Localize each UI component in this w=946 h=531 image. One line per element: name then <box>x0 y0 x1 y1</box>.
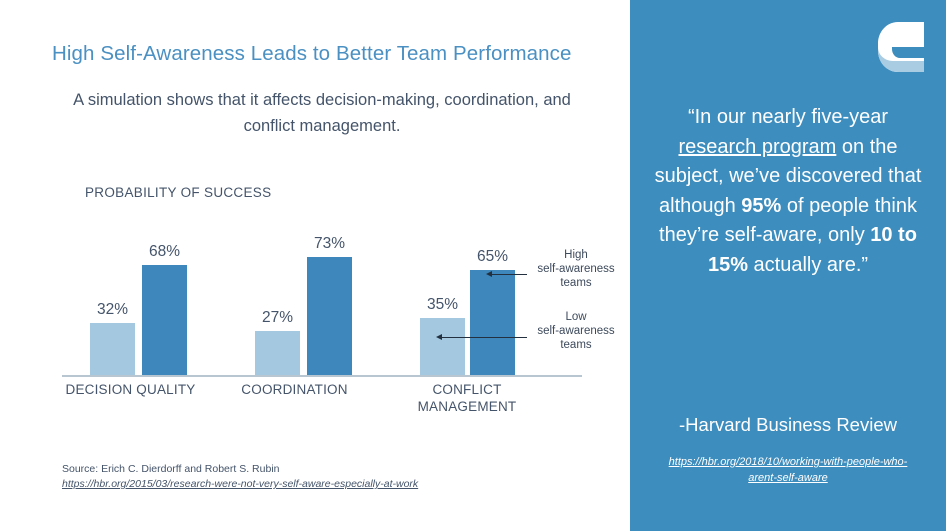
bar-value-label: 27% <box>262 309 293 327</box>
bar-high-coordination[interactable]: 73% <box>307 257 352 375</box>
annotation-high-self-awareness: High self-awareness teams <box>528 248 624 290</box>
korn-ferry-c-logo-icon <box>878 22 924 72</box>
annotation-line-3: teams <box>528 276 624 290</box>
bar-value-label: 73% <box>314 235 345 253</box>
bar-rect <box>307 257 352 375</box>
annotation-line-1: High <box>528 248 624 262</box>
quote-stat-95: 95% <box>741 195 781 217</box>
annotation-arrowhead-low <box>436 334 442 340</box>
bar-rect <box>90 323 135 375</box>
annotation-leader-line-low <box>442 337 527 338</box>
bar-low-conflict-management[interactable]: 35% <box>420 318 465 375</box>
slide-subtitle: A simulation shows that it affects decis… <box>52 88 592 139</box>
source-note: Source: Erich C. Dierdorff and Robert S.… <box>62 462 418 492</box>
bar-chart: 32% 68% 27% 73% 35% 65% <box>0 210 630 425</box>
quote-attribution: -Harvard Business Review <box>648 414 928 436</box>
chart-baseline <box>62 375 582 377</box>
bar-value-label: 68% <box>149 243 180 261</box>
bar-rect <box>142 265 187 375</box>
annotation-arrowhead-high <box>486 271 492 277</box>
source-authors: Source: Erich C. Dierdorff and Robert S.… <box>62 462 418 477</box>
annotation-line-3: teams <box>528 338 624 352</box>
source-url-link[interactable]: https://hbr.org/2015/03/research-were-no… <box>62 477 418 492</box>
quote-panel: “In our nearly five-year research progra… <box>630 0 946 531</box>
bar-value-label: 35% <box>427 296 458 314</box>
bar-value-label: 65% <box>477 248 508 266</box>
annotation-line-1: Low <box>528 310 624 324</box>
quote-part-1: “In our nearly five-year <box>688 106 888 128</box>
bar-low-decision-quality[interactable]: 32% <box>90 323 135 375</box>
chart-title: PROBABILITY OF SUCCESS <box>85 185 271 200</box>
bar-high-decision-quality[interactable]: 68% <box>142 265 187 375</box>
pull-quote: “In our nearly five-year research progra… <box>648 103 928 281</box>
annotation-line-2: self-awareness <box>528 262 624 276</box>
category-label-decision-quality: DECISION QUALITY <box>58 382 203 399</box>
quote-part-7: actually are.” <box>748 254 868 276</box>
quote-source-url-link[interactable]: https://hbr.org/2018/10/working-with-peo… <box>668 455 908 487</box>
bar-rect <box>255 331 300 375</box>
category-label-coordination: COORDINATION <box>222 382 367 399</box>
bar-rect <box>420 318 465 375</box>
quote-part-research-program: research program <box>678 136 836 158</box>
annotation-line-2: self-awareness <box>528 324 624 338</box>
category-label-conflict-management: CONFLICT MANAGEMENT <box>398 382 536 416</box>
bar-high-conflict-management[interactable]: 65% <box>470 270 515 375</box>
bar-value-label: 32% <box>97 301 128 319</box>
content-pane: High Self-Awareness Leads to Better Team… <box>0 0 630 531</box>
annotation-low-self-awareness: Low self-awareness teams <box>528 310 624 352</box>
slide-canvas: High Self-Awareness Leads to Better Team… <box>0 0 946 531</box>
annotation-leader-line-high <box>492 274 527 275</box>
page-title: High Self-Awareness Leads to Better Team… <box>52 42 612 66</box>
bar-rect <box>470 270 515 375</box>
bar-low-coordination[interactable]: 27% <box>255 331 300 375</box>
